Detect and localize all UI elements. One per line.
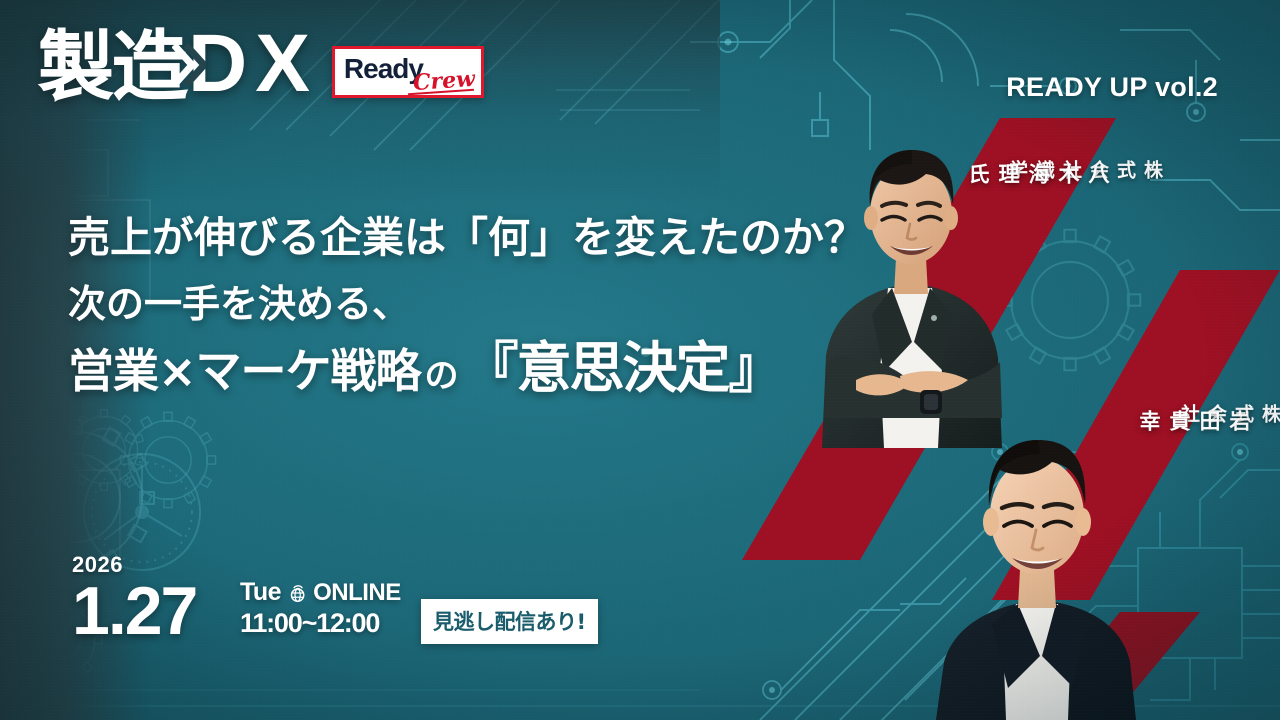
ready-crew-ready-text: Ready <box>344 53 423 85</box>
time-block: Tue ONLINE 11:00~12:00 <box>240 578 401 639</box>
headline-line-3-part-b: の <box>425 357 458 395</box>
webinar-banner: 株式会社識学 八木 海理氏 <box>0 0 1280 720</box>
headline-line-3-part-c: 『意思決定』 <box>464 338 782 400</box>
headline-line-3-part-a: 営業×マーケ戦略 <box>68 346 421 398</box>
headline-line-2: 次の一手を決める、 <box>68 284 866 326</box>
ready-crew-logo: Ready Crew <box>332 46 484 98</box>
status-badge: 見逃し配信あり! <box>421 599 598 644</box>
series-label: READY UP vol.2 <box>1006 72 1218 103</box>
globe-wifi-icon <box>288 582 309 603</box>
time-block-top-row: Tue ONLINE <box>240 578 401 607</box>
headline-line-3: 営業×マーケ戦略 の 『意思決定』 <box>68 338 866 400</box>
event-date: 1.27 <box>72 580 196 643</box>
event-day-of-week: Tue <box>240 578 281 607</box>
brand-logo-group: 製造 D X Ready Crew <box>38 26 484 101</box>
logo-x-letter: X <box>255 26 306 101</box>
seizo-dx-logo: 製造 D X <box>38 26 306 101</box>
date-block: 2026 1.27 <box>72 552 196 643</box>
logo-japanese-text: 製造 <box>38 32 186 102</box>
double-chevron-right-icon <box>172 43 206 87</box>
headline-line-1: 売上が伸びる企業は「何」を変えたのか？ <box>68 214 866 262</box>
headline-group: 売上が伸びる企業は「何」を変えたのか？ 次の一手を決める、 営業×マーケ戦略 の… <box>68 214 866 400</box>
event-time: 11:00~12:00 <box>240 608 401 639</box>
event-online-label: ONLINE <box>313 579 401 607</box>
logo-dx-text: D X <box>188 26 306 101</box>
